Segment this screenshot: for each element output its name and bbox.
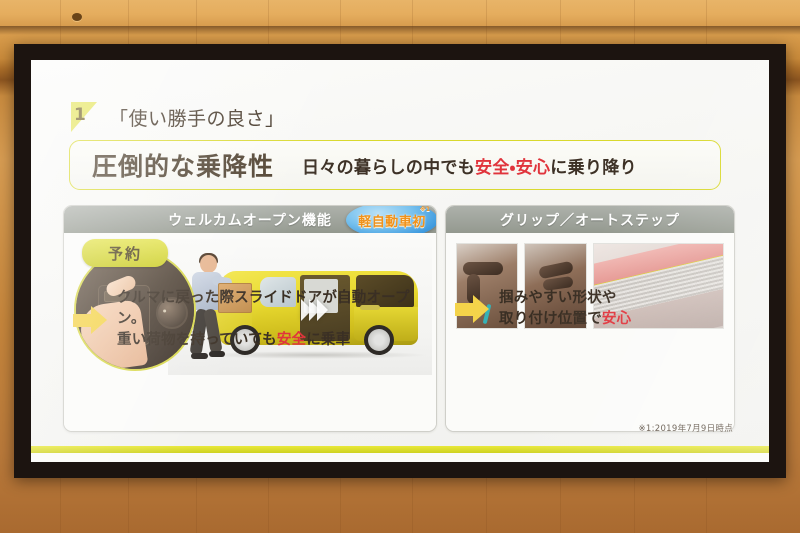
caption-right-line1: 掴みやすい形状や (499, 290, 617, 306)
caption-grip-autostep-text: 掴みやすい形状や 取り付け位置で安心 (499, 288, 631, 330)
panel-grip-autostep-title: グリップ／オートステップ (500, 210, 680, 230)
wall-upper-molding (0, 0, 800, 26)
wall-shadow (0, 26, 800, 35)
panel-grip-autostep-header: グリップ／オートステップ (446, 206, 734, 233)
section-number-flag-icon: 1 (71, 102, 97, 132)
caption-right-line2-prefix: 取り付け位置で (499, 311, 602, 327)
slide-footnote: ※1:2019年7月9日時点 (638, 422, 733, 434)
caption-left-line2-prefix: 重い荷物を持っていても (117, 332, 277, 348)
slide-title-box: 圧倒的な乗降性 日々の暮らしの中でも安全・安心に乗り降り (69, 140, 721, 190)
caption-welcome-open-text: クルマに戻った際スライドドアが自動オープン。 重い荷物を持っていても安全に乗車 (117, 288, 423, 351)
caption-left-line2-highlight: 安全 (277, 332, 306, 348)
section-heading-label: 「使い勝手の良さ」 (109, 104, 285, 131)
caption-welcome-open: クルマに戻った際スライドドアが自動オープン。 重い荷物を持っていても安全に乗車 (73, 288, 423, 351)
slide-title-sub-highlight: 安全・安心 (475, 158, 550, 178)
caption-right-line2-highlight: 安心 (602, 311, 631, 327)
panel-welcome-open-title: ウェルカムオープン機能 (168, 210, 332, 230)
projection-screen-surface: 1 「使い勝手の良さ」 圧倒的な乗降性 日々の暮らしの中でも安全・安心に乗り降り… (31, 60, 769, 462)
slide-heading-row: 1 「使い勝手の良さ」 (71, 102, 285, 132)
first-in-kei-car-badge-superscript: ※1 (420, 206, 430, 213)
slide-bottom-margin (31, 453, 769, 462)
projection-screen-frame: 1 「使い勝手の良さ」 圧倒的な乗降性 日々の暮らしの中でも安全・安心に乗り降り… (14, 44, 786, 478)
reservation-badge-text: 予約 (108, 243, 142, 264)
slide-title-sub-suffix: に乗り降り (550, 158, 637, 178)
caption-left-line2-suffix: に乗車 (306, 332, 350, 348)
screenshot-stage: 1 「使い勝手の良さ」 圧倒的な乗降性 日々の暮らしの中でも安全・安心に乗り降り… (0, 0, 800, 533)
slide-title-sub-prefix: 日々の暮らしの中でも (302, 158, 475, 178)
caption-left-line1: クルマに戻った際スライドドアが自動オープン。 (117, 290, 410, 327)
slide-bottom-accent-band (31, 446, 769, 453)
slide-title-sub: 日々の暮らしの中でも安全・安心に乗り降り (302, 153, 637, 178)
slide-title-main: 圧倒的な乗降性 (92, 147, 274, 183)
presentation-slide: 1 「使い勝手の良さ」 圧倒的な乗降性 日々の暮らしの中でも安全・安心に乗り降り… (31, 60, 769, 462)
caption-grip-autostep: 掴みやすい形状や 取り付け位置で安心 (455, 288, 725, 330)
panel-welcome-open-header: ウェルカムオープン機能 軽自動車初 ※1 (64, 206, 436, 233)
section-number: 1 (74, 105, 86, 125)
arrow-right-icon (73, 306, 107, 334)
reservation-badge: 予約 (82, 239, 168, 267)
ceiling-fixture-icon (72, 13, 82, 21)
arrow-right-icon (455, 295, 489, 323)
panel-grip-autostep-body (446, 233, 734, 431)
first-in-kei-car-badge-text: 軽自動車初 (358, 211, 426, 230)
